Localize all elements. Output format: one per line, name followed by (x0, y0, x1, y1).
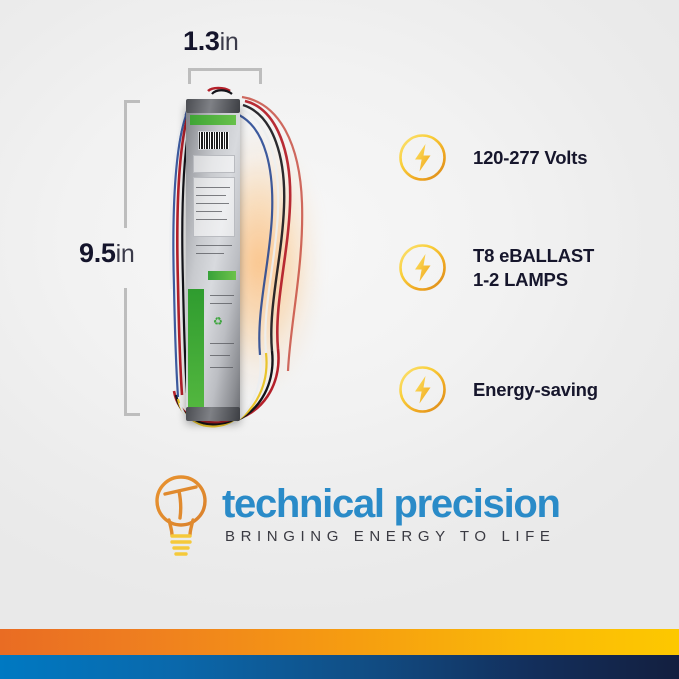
ballast-label-green-panel (188, 289, 204, 409)
width-dimension-bracket (188, 68, 262, 84)
width-dimension-label: 1.3in (183, 26, 239, 57)
ballast-end-cap-top (186, 99, 240, 113)
ballast-label-line (196, 245, 232, 246)
ballast-label-line (210, 355, 230, 356)
width-dimension-value: 1.3 (183, 26, 220, 56)
lightning-bolt-icon (398, 243, 447, 292)
logo-text-block: technical precision BRINGING ENERGY TO L… (222, 471, 560, 545)
ballast-label-box-1 (193, 155, 235, 173)
footer-bar-orange (0, 629, 679, 655)
product-image: ♻ (150, 85, 325, 440)
lightning-bolt-icon (398, 365, 447, 414)
product-infographic: 1.3in 9.5in (0, 0, 679, 679)
ballast-end-cap-bottom (186, 407, 240, 421)
ballast-barcode (198, 131, 230, 150)
ballast-label-line (210, 343, 234, 344)
feature-item-voltage: 120-277 Volts (398, 133, 587, 182)
ballast-label-line (210, 303, 232, 304)
ballast-label-line (196, 211, 222, 212)
ballast-label-line (196, 187, 230, 188)
feature-label: 120-277 Volts (473, 146, 587, 170)
recycle-icon: ♻ (213, 317, 224, 328)
ballast-label-line (210, 367, 233, 368)
ballast-label-line (196, 253, 224, 254)
ballast-label-green-stripe (190, 115, 236, 125)
brand-logo: technical precision BRINGING ENERGY TO L… (147, 471, 542, 563)
height-dimension-value: 9.5 (79, 238, 116, 268)
ballast-label-line (196, 219, 227, 220)
width-dimension-unit: in (220, 28, 239, 56)
height-dimension-label: 9.5in (79, 238, 135, 269)
height-dimension-bracket-bottom (124, 288, 140, 416)
logo-tagline: BRINGING ENERGY TO LIFE (222, 528, 560, 545)
ballast-label-line (196, 195, 226, 196)
feature-label: Energy-saving (473, 378, 598, 402)
ballast-body: ♻ (186, 103, 240, 421)
ballast-label-line (196, 203, 229, 204)
feature-item-energy-saving: Energy-saving (398, 365, 598, 414)
lightning-bolt-icon (398, 133, 447, 182)
ballast-label-green-small (208, 271, 236, 280)
ballast-label-box-2 (193, 177, 235, 237)
lightbulb-icon (147, 471, 215, 559)
feature-item-ballast-type: T8 eBALLAST 1-2 LAMPS (398, 243, 594, 292)
footer-bar-blue (0, 655, 679, 679)
feature-label: T8 eBALLAST 1-2 LAMPS (473, 244, 594, 292)
height-dimension-unit: in (116, 240, 135, 268)
height-dimension-bracket-top (124, 100, 140, 228)
ballast-label-line (210, 295, 234, 296)
logo-wordmark: technical precision (222, 483, 560, 525)
